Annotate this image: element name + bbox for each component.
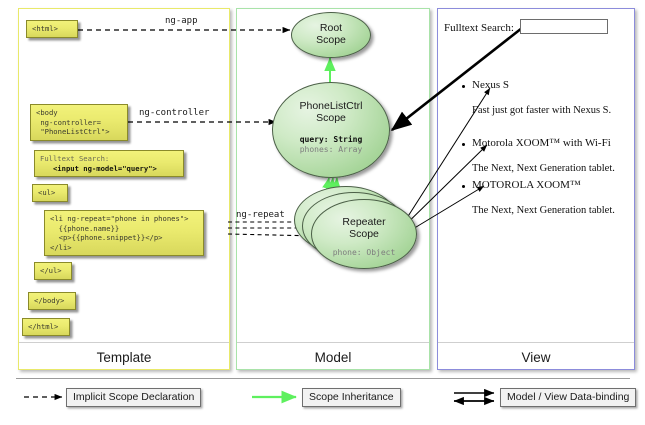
legend-implicit-scope-declaration: Implicit Scope Declaration <box>66 388 201 407</box>
view-phone-name-1: Motorola XOOM™ with Wi-Fi <box>472 137 611 149</box>
phone-list-ctrl-scope-prop-phones: phones: Array <box>273 145 389 155</box>
view-caption-divider <box>438 342 634 343</box>
ng-repeat-label: ng-repeat <box>236 210 285 220</box>
ng-controller-label: ng-controller <box>139 108 209 118</box>
phone-list-ctrl-scope-ellipse: PhoneListCtrl Scope query: String phones… <box>272 82 390 178</box>
ng-app-label: ng-app <box>165 16 198 26</box>
body-close-tag-box: </body> <box>28 292 76 310</box>
fulltext-search-markup-line2: <input ng-model="query"> <box>53 164 157 173</box>
template-caption-divider <box>19 342 229 343</box>
html-open-tag-box: <html> <box>26 20 78 38</box>
template-caption: Template <box>19 350 229 365</box>
fulltext-search-label: Fulltext Search: <box>444 22 514 34</box>
fulltext-search-markup-line1: Fulltext Search: <box>40 154 109 163</box>
view-phone-snippet-1: The Next, Next Generation tablet. <box>472 163 615 174</box>
legend-model-view-data-binding: Model / View Data-binding <box>500 388 636 407</box>
legend-arrow-model-view-data-binding <box>454 393 494 401</box>
view-phone-name-0: Nexus S <box>472 79 509 91</box>
root-scope-ellipse: Root Scope <box>291 12 371 58</box>
repeater-scope-title-line1: Repeater <box>312 216 416 228</box>
repeater-scope-ellipse: Repeater Scope phone: Object <box>311 199 417 269</box>
root-scope-title-line2: Scope <box>292 34 370 46</box>
view-phone-name-2: MOTOROLA XOOM™ <box>472 179 581 191</box>
repeater-scope-prop-phone: phone: Object <box>312 248 416 258</box>
phone-list-ctrl-scope-title-line1: PhoneListCtrl <box>273 100 389 112</box>
phone-list-ctrl-scope-prop-query: query: String <box>273 135 389 145</box>
diagram-canvas: Template Model View <box>0 0 645 425</box>
view-bullet-2 <box>462 185 465 188</box>
view-bullet-0 <box>462 85 465 88</box>
model-caption: Model <box>237 350 429 365</box>
body-ng-controller-box: <body ng-controller= "PhoneListCtrl"> <box>30 104 128 141</box>
ul-open-tag-box: <ul> <box>32 184 68 202</box>
model-caption-divider <box>237 342 429 343</box>
html-close-tag-box: </html> <box>22 318 70 336</box>
legend-separator <box>16 378 630 379</box>
fulltext-search-input[interactable] <box>520 19 608 34</box>
repeater-scope-title-line2: Scope <box>312 228 416 240</box>
view-bullet-1 <box>462 143 465 146</box>
legend-scope-inheritance: Scope Inheritance <box>302 388 401 407</box>
view-phone-snippet-0: Fast just got faster with Nexus S. <box>472 105 611 116</box>
ul-close-tag-box: </ul> <box>34 262 72 280</box>
fulltext-search-markup-box: Fulltext Search: <input ng-model="query"… <box>34 150 184 177</box>
root-scope-title-line1: Root <box>292 22 370 34</box>
phone-list-ctrl-scope-title-line2: Scope <box>273 112 389 124</box>
li-ng-repeat-box: <li ng-repeat="phone in phones"> {{phone… <box>44 210 204 256</box>
view-phone-snippet-2: The Next, Next Generation tablet. <box>472 205 615 216</box>
view-caption: View <box>438 350 634 365</box>
